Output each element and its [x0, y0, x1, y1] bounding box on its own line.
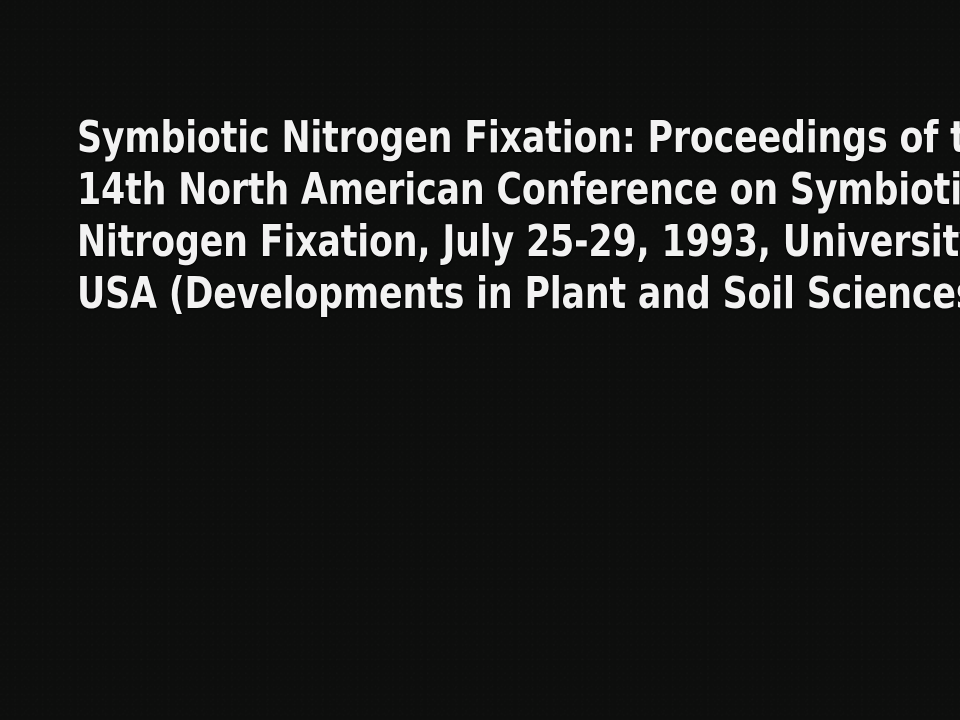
title-line-3: Nitrogen Fixation, July 25-29, 1993, Uni…	[77, 216, 883, 268]
title-line-1: Symbiotic Nitrogen Fixation: Proceedings…	[77, 112, 883, 164]
title-line-2: 14th North American Conference on Symbio…	[77, 164, 883, 216]
page-title: Symbiotic Nitrogen Fixation: Proceedings…	[0, 112, 960, 320]
title-card-screen: Symbiotic Nitrogen Fixation: Proceedings…	[0, 0, 960, 720]
title-line-4: USA (Developments in Plant and Soil Scie…	[77, 268, 883, 320]
